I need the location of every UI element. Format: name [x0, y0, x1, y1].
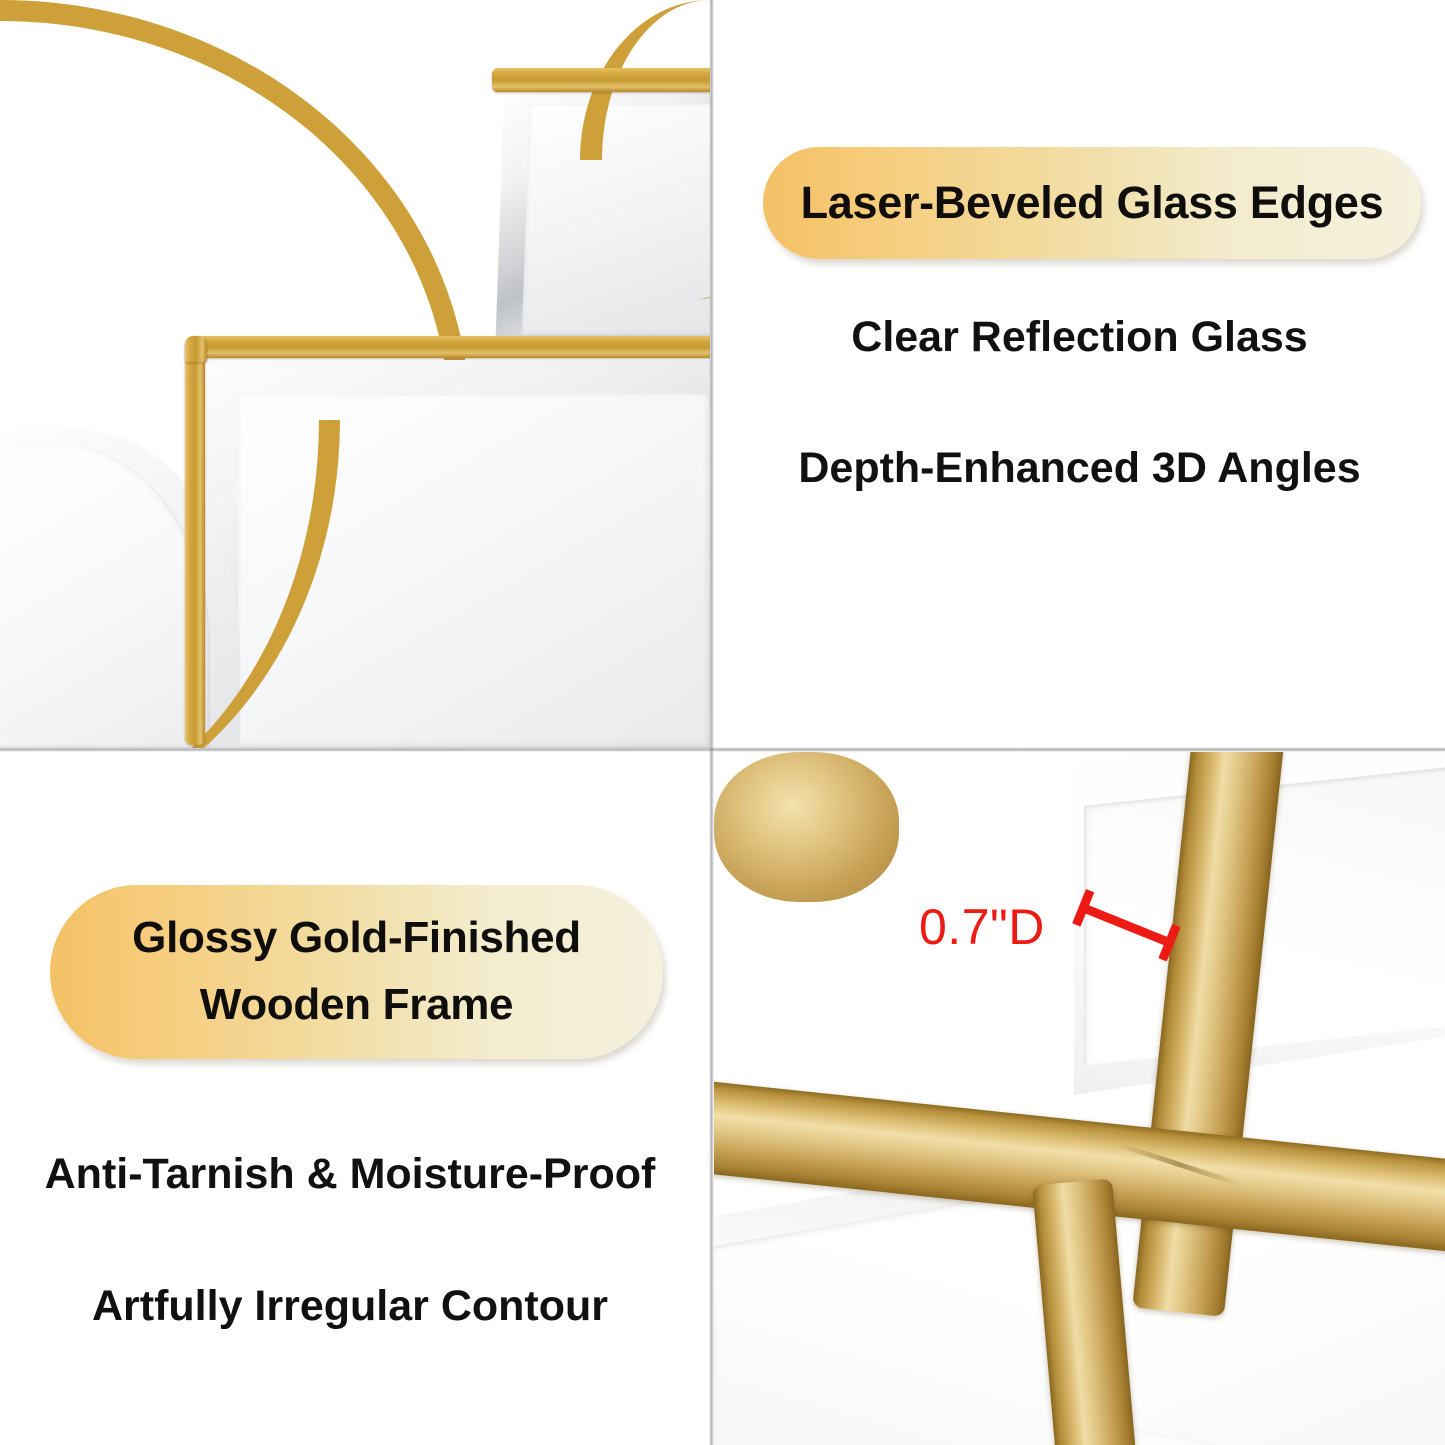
gold-frame-vertical-rail — [185, 340, 205, 745]
gold-frame-corner-nub — [185, 336, 207, 362]
frame-junction-photo-canvas: 0.7"D — [714, 752, 1445, 1445]
feature-anti-tarnish-moisture-proof: Anti-Tarnish & Moisture-Proof — [0, 1150, 700, 1199]
badge-glossy-gold-finished-wooden-frame: Glossy Gold-Finished Wooden Frame — [50, 885, 663, 1059]
mirror-corner-photo-canvas — [0, 0, 710, 748]
badge-line-1: Glossy Gold-Finished — [132, 905, 581, 972]
panel-mirror-corner-photo — [0, 0, 710, 748]
depth-dimension-label: 0.7"D — [919, 898, 1045, 956]
badge-line-2: Wooden Frame — [200, 972, 513, 1039]
panel-glossy-gold-frame-feature: Glossy Gold-Finished Wooden Frame Anti-T… — [0, 752, 710, 1445]
feature-artfully-irregular-contour: Artfully Irregular Contour — [0, 1282, 700, 1331]
badge-laser-beveled-glass: Laser-Beveled Glass Edges — [763, 147, 1421, 259]
gold-frame-top-bar — [492, 68, 710, 92]
feature-depth-enhanced-3d-angles: Depth-Enhanced 3D Angles — [714, 444, 1445, 493]
product-feature-infographic: Laser-Beveled Glass Edges Clear Reflecti… — [0, 0, 1445, 1445]
feature-clear-reflection-glass: Clear Reflection Glass — [714, 313, 1445, 362]
panel-frame-junction-macro-photo: 0.7"D — [714, 752, 1445, 1445]
badge-line: Laser-Beveled Glass Edges — [801, 177, 1384, 229]
panel-laser-beveled-glass-feature: Laser-Beveled Glass Edges Clear Reflecti… — [714, 0, 1445, 748]
gold-bar-junction — [714, 752, 899, 902]
gold-frame-horizontal-rail — [190, 336, 710, 358]
